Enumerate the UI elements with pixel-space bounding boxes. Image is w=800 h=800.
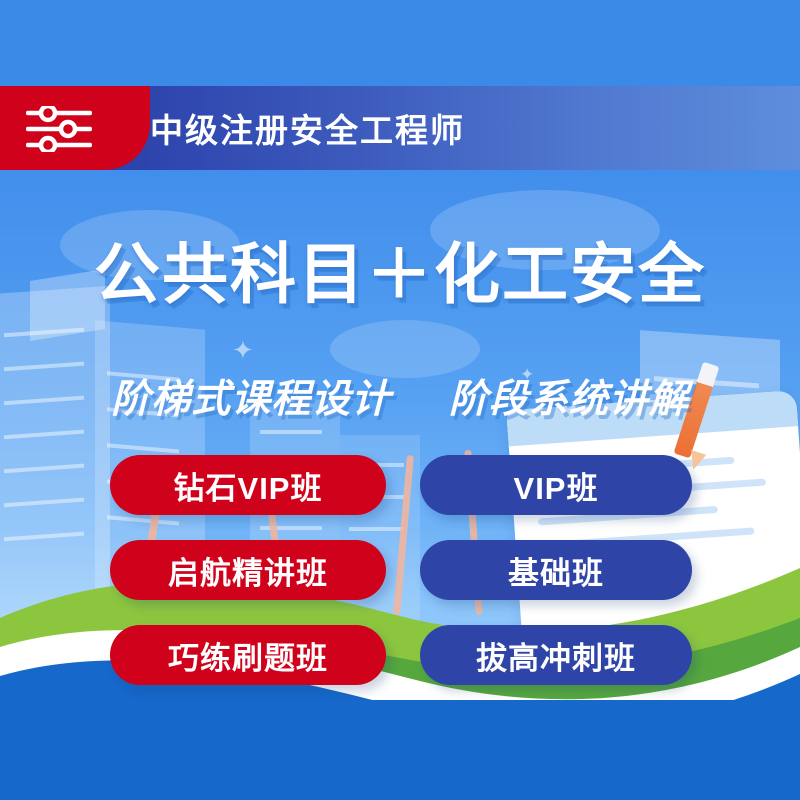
course-button-row: 巧练刷题班 拔高冲刺班 [0,625,800,685]
top-sky-strip [0,0,800,86]
hero-subtitle: 阶梯式课程设计 阶段系统讲解 [0,368,800,424]
header-bar: 中级注册安全工程师 [0,86,800,170]
bottom-blue-fill [0,700,800,800]
hero-subtitle-left: 阶梯式课程设计 [111,378,391,421]
course-button-diamond-vip[interactable]: 钻石VIP班 [110,455,386,515]
course-button-row: 钻石VIP班 VIP班 [0,455,800,515]
hero-title: 公共科目＋化工安全 [0,240,800,309]
sliders-icon[interactable] [26,106,92,152]
course-button-grid: 钻石VIP班 VIP班 启航精讲班 基础班 巧练刷题班 拔高冲刺班 [0,455,800,710]
course-button-vip[interactable]: VIP班 [420,455,692,515]
course-button-practice-drill[interactable]: 巧练刷题班 [110,625,386,685]
hero-subtitle-right: 阶段系统讲解 [449,378,689,421]
course-button-basic[interactable]: 基础班 [420,540,692,600]
header-title: 中级注册安全工程师 [150,86,465,170]
star-icon: ✦ [232,335,254,366]
course-button-qihang-jingjiang[interactable]: 启航精讲班 [110,540,386,600]
course-button-row: 启航精讲班 基础班 [0,540,800,600]
course-button-sprint[interactable]: 拔高冲刺班 [420,625,692,685]
promo-banner: 中级注册安全工程师 ✦ ✦ [0,0,800,800]
